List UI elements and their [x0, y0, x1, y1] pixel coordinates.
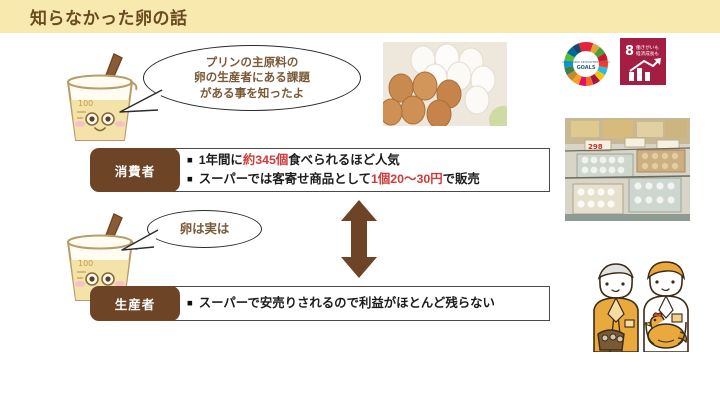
role-tag-consumer: 消費者	[90, 148, 180, 192]
egg-carton-photo	[383, 42, 507, 126]
sdg-goal-8-tile: 8 働きがいも 経済成長も	[620, 38, 666, 85]
bubble-producer: 卵は実は	[147, 210, 262, 248]
sdg-wheel-logo: SUSTAINABLE DEVELOPMENT GOALS GOALS	[560, 38, 612, 90]
producer-body: ■ スーパーで安売りされるので利益がほとんど残らない	[172, 286, 550, 321]
bubble-consumer: プリンの主原料の 卵の生産者にある課題 がある事を知ったよ	[143, 45, 361, 111]
bullet-text-part: 食べられるほど人気	[288, 151, 400, 170]
bullet-text-highlight: 約345個	[243, 151, 288, 170]
bullet-square-icon: ■	[187, 173, 193, 187]
consumer-bullet-1: ■ 1年間に 約345個 食べられるほど人気	[187, 151, 541, 170]
svg-text:100: 100	[78, 259, 93, 268]
bullet-square-icon: ■	[187, 297, 193, 311]
consumer-body: ■ 1年間に 約345個 食べられるほど人気 ■ スーパーでは客寄せ商品として …	[172, 148, 550, 192]
bubble-consumer-tail	[118, 86, 164, 116]
svg-text:GOALS: GOALS	[577, 65, 596, 71]
bullet-text-part: スーパーでは客寄せ商品として	[199, 170, 371, 189]
farmers-with-chicken-illustration	[592, 248, 700, 352]
slide-root: 知らなかった卵の話 100	[0, 0, 720, 405]
double-headed-arrow	[338, 200, 380, 283]
svg-text:100: 100	[78, 99, 93, 108]
title-banner: 知らなかった卵の話	[0, 0, 720, 33]
page-title: 知らなかった卵の話	[30, 4, 188, 29]
consumer-bullet-2: ■ スーパーでは客寄せ商品として 1個20〜30円 で販売	[187, 170, 541, 189]
sdg-goal-title-line1: 働きがいも	[636, 44, 659, 51]
sdg-wheel-label: SUSTAINABLE DEVELOPMENT GOALS	[562, 60, 610, 64]
role-tag-producer: 生産者	[90, 286, 180, 321]
bullet-text-highlight: 1個20〜30円	[371, 170, 443, 189]
bullet-text-part: 1年間に	[199, 151, 243, 170]
bullet-text-part: で販売	[443, 170, 480, 189]
consumer-row: 消費者 ■ 1年間に 約345個 食べられるほど人気 ■ スーパーでは客寄せ商品…	[90, 148, 550, 192]
bullet-square-icon: ■	[187, 154, 193, 168]
sdg-goal-number: 8	[625, 44, 634, 59]
sdg-goal-title-line2: 経済成長も	[636, 50, 659, 57]
producer-row: 生産者 ■ スーパーで安売りされるので利益がほとんど残らない	[90, 286, 550, 321]
bubble-producer-tail	[120, 228, 160, 254]
producer-bullet-1: ■ スーパーで安売りされるので利益がほとんど残らない	[187, 294, 541, 313]
bullet-text-part: スーパーで安売りされるので利益がほとんど残らない	[199, 294, 495, 313]
supermarket-egg-shelf-photo: 298	[565, 118, 690, 221]
